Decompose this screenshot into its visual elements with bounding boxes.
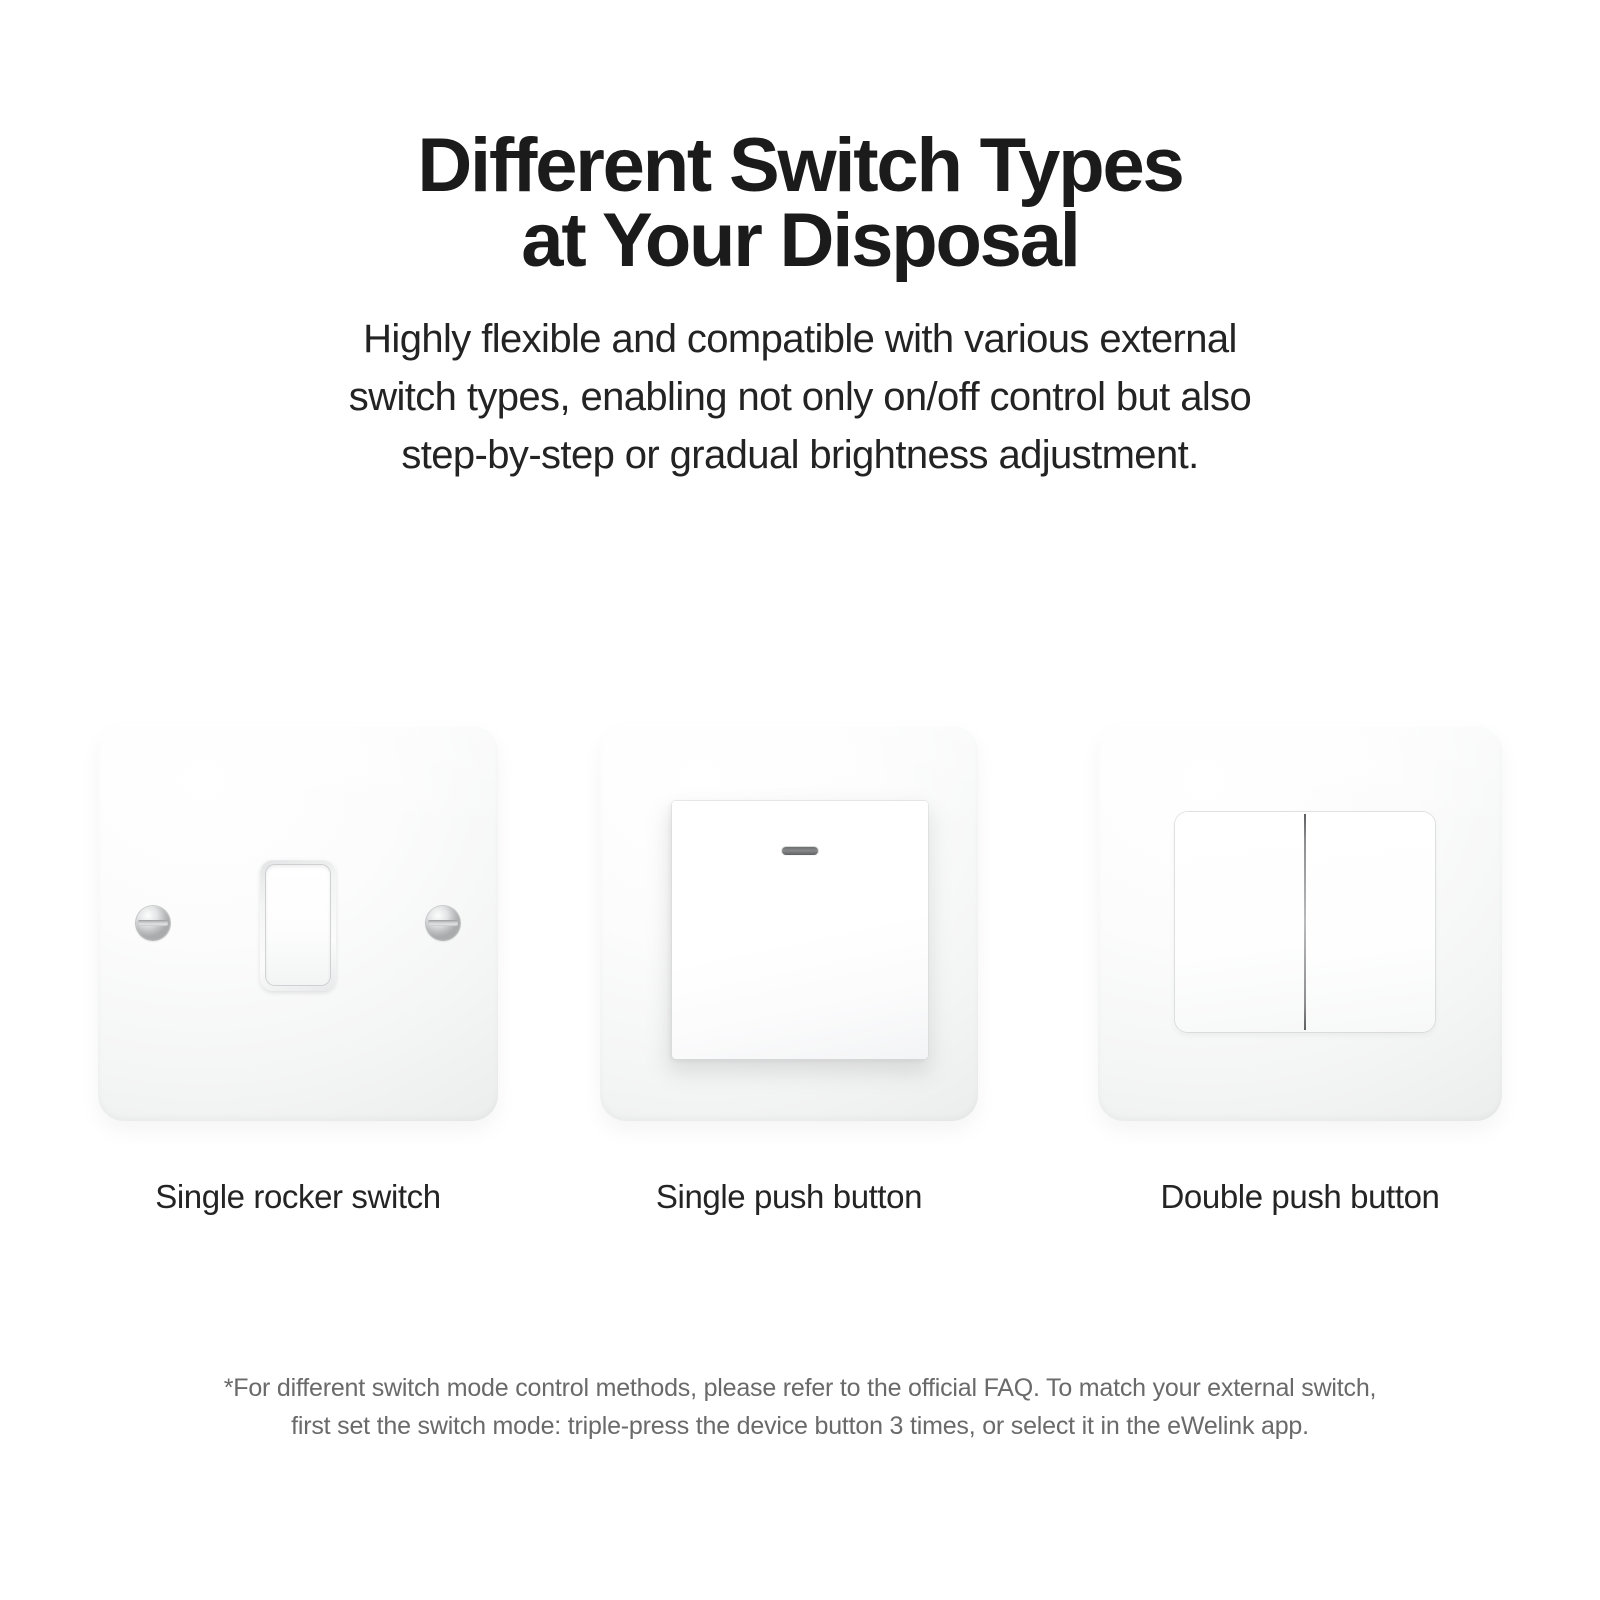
product-infographic-page: Different Switch Types at Your Disposal … [0,0,1600,1600]
page-title-line-2: at Your Disposal [0,203,1600,278]
screw-slot [428,920,458,926]
led-indicator-icon [782,847,818,855]
screw-slot [138,920,168,926]
push-paddle-left [1175,812,1304,1032]
rocker-bezel [260,859,336,991]
double-paddle-group [1175,812,1435,1032]
paddle-divider [1304,814,1306,1030]
product-image-single-rocker-switch [98,725,498,1121]
page-subtitle-line-3: step-by-step or gradual brightness adjus… [0,426,1600,484]
page-subtitle-line-2: switch types, enabling not only on/off c… [0,368,1600,426]
page-subtitle-line-1: Highly flexible and compatible with vari… [0,310,1600,368]
product-image-row [0,725,1600,1125]
footnote: *For different switch mode control metho… [0,1369,1600,1445]
footnote-line-2: first set the switch mode: triple-press … [0,1407,1600,1445]
footnote-line-1: *For different switch mode control metho… [0,1369,1600,1407]
product-caption-double-push-button: Double push button [1098,1178,1502,1216]
product-caption-single-push-button: Single push button [600,1178,978,1216]
product-image-double-push-button [1098,725,1502,1121]
page-title-line-1: Different Switch Types [0,128,1600,203]
push-paddle-right [1306,812,1435,1032]
page-subtitle: Highly flexible and compatible with vari… [0,310,1600,484]
product-image-single-push-button [600,725,978,1121]
push-paddle [672,801,928,1059]
rocker-paddle [266,865,330,985]
header: Different Switch Types at Your Disposal … [0,128,1600,484]
screw-left-icon [136,906,170,940]
page-title: Different Switch Types at Your Disposal [0,128,1600,278]
screw-right-icon [426,906,460,940]
product-caption-row: Single rocker switch Single push button … [0,1178,1600,1228]
product-caption-single-rocker-switch: Single rocker switch [98,1178,498,1216]
